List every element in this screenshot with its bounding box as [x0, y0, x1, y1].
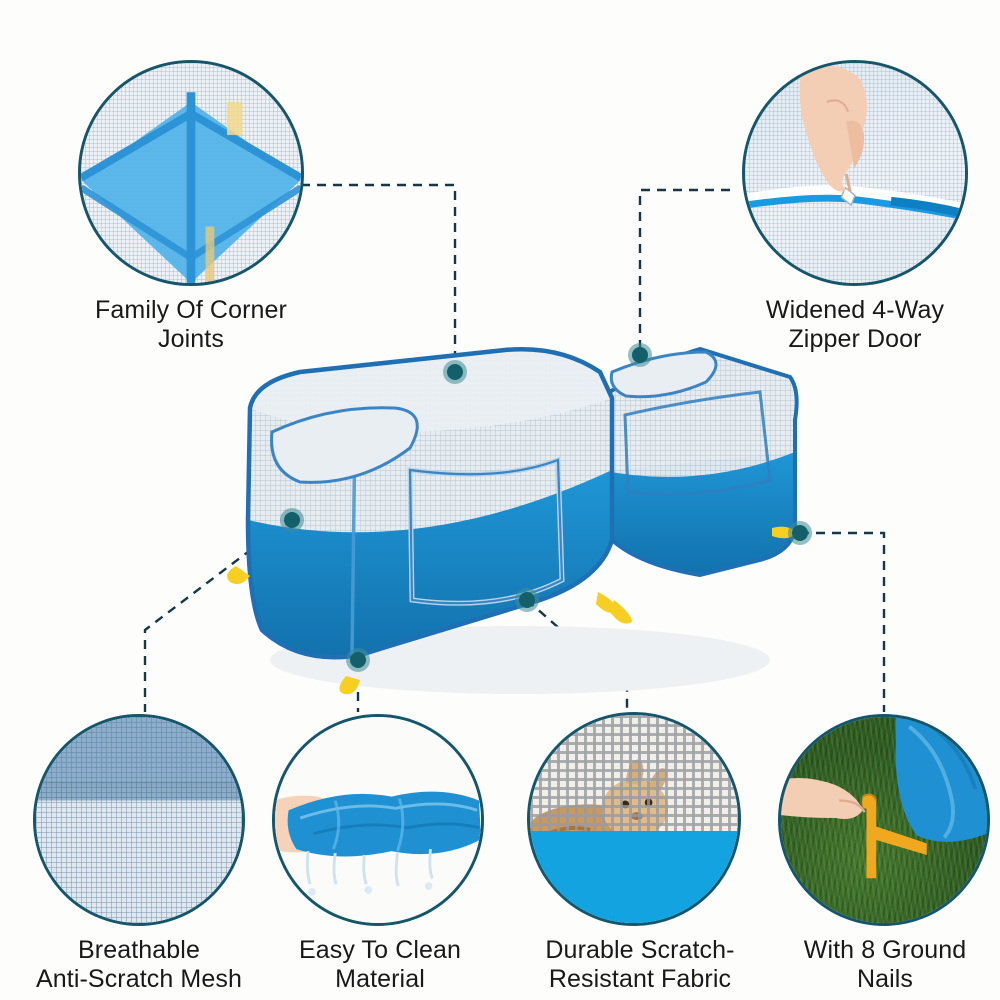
- zipper-hand-icon[interactable]: [742, 60, 968, 286]
- feature-label-easy-clean: Easy To Clean Material: [252, 936, 508, 994]
- hotspot-ground-nails[interactable]: [792, 525, 808, 541]
- feature-label-scratch-resistant: Durable Scratch- Resistant Fabric: [506, 936, 774, 994]
- hotspot-corner-joints[interactable]: [447, 364, 463, 380]
- pet-behind-mesh-icon[interactable]: [527, 712, 741, 926]
- corner-joint-icon[interactable]: [78, 60, 304, 286]
- mesh-swatch-icon[interactable]: [33, 714, 245, 926]
- feature-label-breathable-mesh: Breathable Anti-Scratch Mesh: [5, 936, 273, 994]
- feature-label-ground-nails: With 8 Ground Nails: [770, 936, 1000, 994]
- hotspot-scratch-resistant[interactable]: [519, 592, 535, 608]
- hotspot-breathable-mesh[interactable]: [284, 512, 300, 528]
- water-wipe-icon[interactable]: [272, 714, 484, 926]
- feature-label-zipper-door: Widened 4-Way Zipper Door: [712, 296, 998, 354]
- hotspot-easy-clean[interactable]: [350, 652, 366, 668]
- hotspot-zipper-door[interactable]: [632, 347, 648, 363]
- infographic-canvas: Family Of Corner Joints Widened 4-Way Zi…: [0, 0, 1000, 1000]
- feature-label-corner-joints: Family Of Corner Joints: [45, 296, 337, 354]
- ground-stake-icon[interactable]: [778, 714, 990, 926]
